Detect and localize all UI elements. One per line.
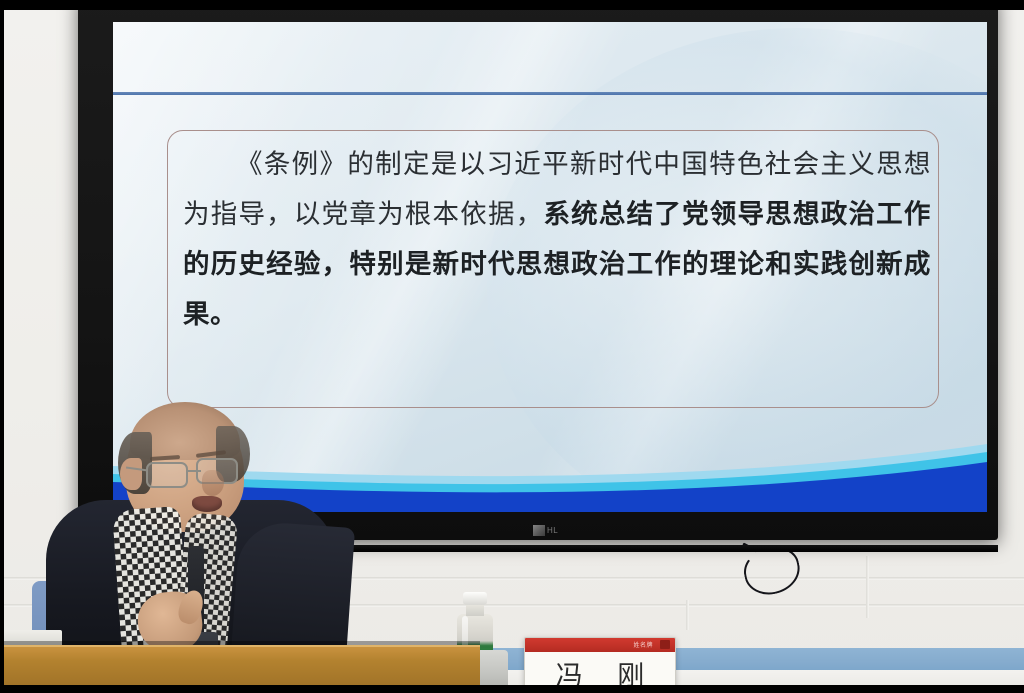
name-plate-band: 姓名牌 <box>525 638 675 652</box>
speaker-ear <box>120 458 142 490</box>
letterbox-bottom <box>0 685 1024 693</box>
letterbox-top <box>0 0 1024 10</box>
brand-logo-text: HL <box>547 526 558 535</box>
glasses-bridge <box>187 470 201 472</box>
wall-panel-seam <box>686 600 689 630</box>
wall-panel-seam <box>866 556 869 618</box>
slide-line-2-bold: 系统总结了党领导思想政治工作 <box>543 199 931 230</box>
slide-line-3-bold: 的历史经验，特别是新时代思想政治工作的理论和实践创新成 <box>183 249 931 280</box>
slide-paragraph: 《条例》的制定是以习近平新时代中国特色社会主义思想为指导，以党章为根本依据，系统… <box>183 140 931 340</box>
slide-line-1: 《条例》的制定是以习近平新时代中国特色社会主义思想 <box>236 149 931 180</box>
bottle-neck <box>466 604 484 616</box>
bottle-cap <box>463 592 487 605</box>
display-brand-logo: HL <box>533 523 577 537</box>
name-plate-band-text: 姓名牌 <box>633 640 653 649</box>
brand-mark-icon <box>533 525 545 536</box>
glasses-icon <box>146 462 188 488</box>
slide-accent-line <box>113 92 987 95</box>
speaker-mouth <box>192 496 222 512</box>
slide-line-2-regular: 为指导，以党章为根本依据， <box>183 199 543 230</box>
lecture-scene: 《条例》的制定是以习近平新时代中国特色社会主义思想为指导，以党章为根本依据，系统… <box>0 0 1024 693</box>
letterbox-left <box>0 0 4 693</box>
slide-line-4-bold: 果。 <box>183 299 237 330</box>
name-plate-band-mark <box>660 640 670 649</box>
